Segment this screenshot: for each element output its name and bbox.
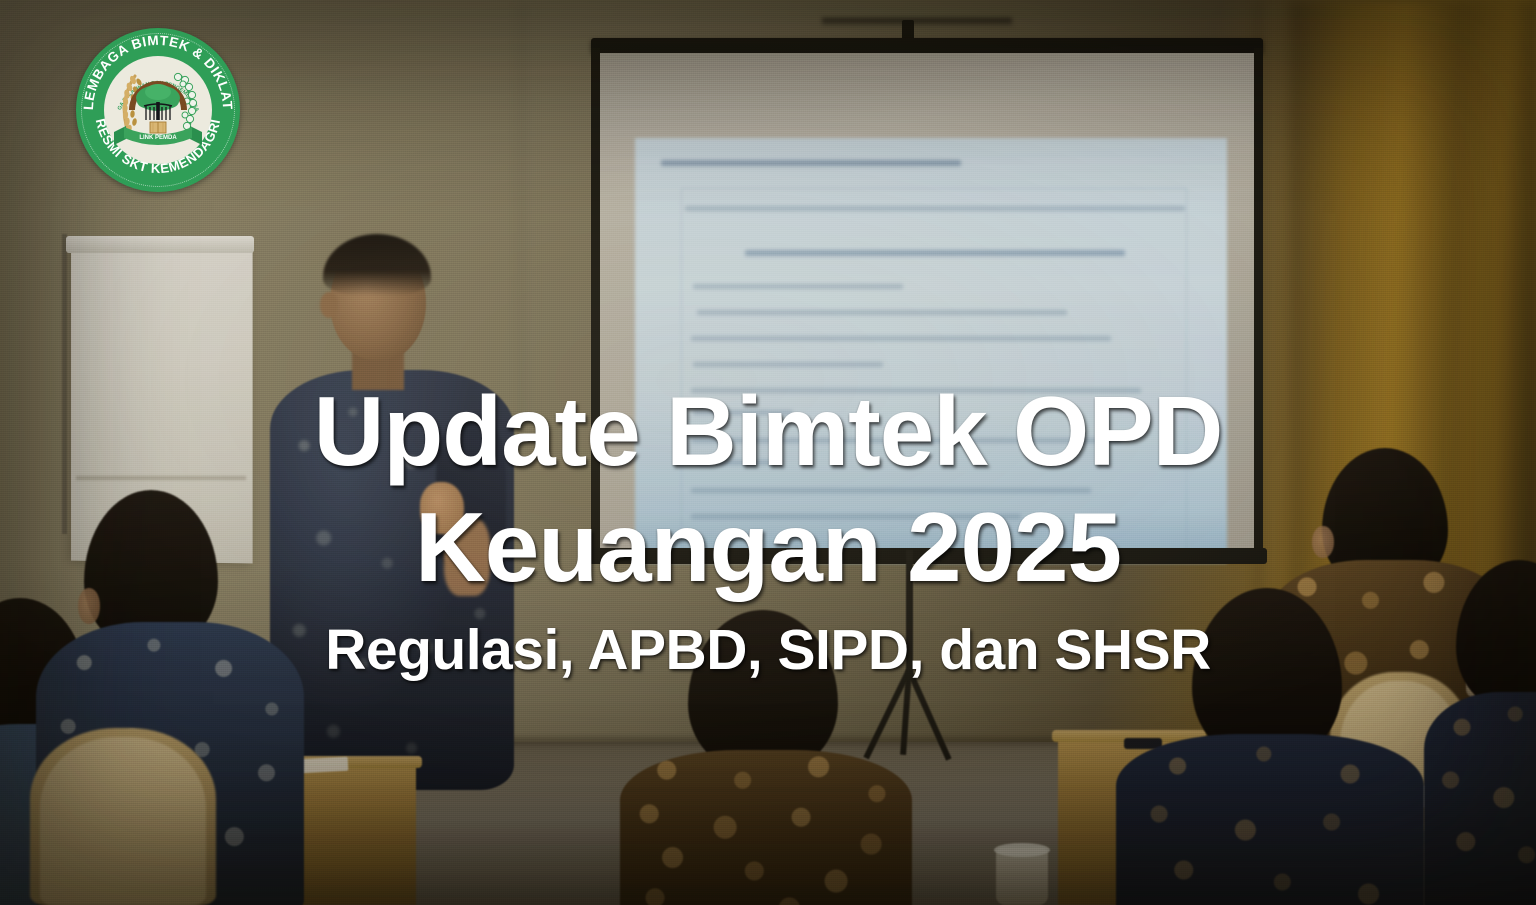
audience-right-blue xyxy=(1148,588,1428,905)
chair-left xyxy=(30,728,216,905)
flipchart-rod xyxy=(62,234,67,534)
flipchart-clamp xyxy=(66,236,254,253)
screen-top-bar xyxy=(591,38,1263,53)
audience-center xyxy=(616,610,916,905)
organization-logo: LEMBAGA BIMTEK & DIKLAT RESMI SKT KEMEND… xyxy=(76,28,240,192)
screen-left-edge xyxy=(591,48,600,556)
screen-right-edge xyxy=(1254,48,1263,556)
logo-book-icon xyxy=(150,122,166,133)
logo-emblem: LEMBAGA PELATIHAN DAN PENGEMBANGAN SDM xyxy=(102,54,214,166)
screen-mount-bar xyxy=(822,18,1012,26)
projection-screen xyxy=(597,48,1257,558)
logo-ribbon-label: LINK PEMDA xyxy=(139,135,177,141)
audience-far-right xyxy=(1440,560,1536,905)
projected-slide xyxy=(635,138,1227,563)
flipchart-crease xyxy=(76,476,246,480)
presenter-hand xyxy=(420,482,464,534)
wall-seam-secondary xyxy=(520,0,532,430)
screen-surface xyxy=(600,53,1254,550)
logo-banyan-tree-icon xyxy=(136,84,180,120)
presenter-hair xyxy=(323,234,431,296)
promo-banner: LEMBAGA BIMTEK & DIKLAT RESMI SKT KEMEND… xyxy=(0,0,1536,905)
slide-content-box xyxy=(681,188,1187,553)
presenter-ear xyxy=(320,292,338,318)
drinking-glass-rim-center xyxy=(994,843,1050,857)
